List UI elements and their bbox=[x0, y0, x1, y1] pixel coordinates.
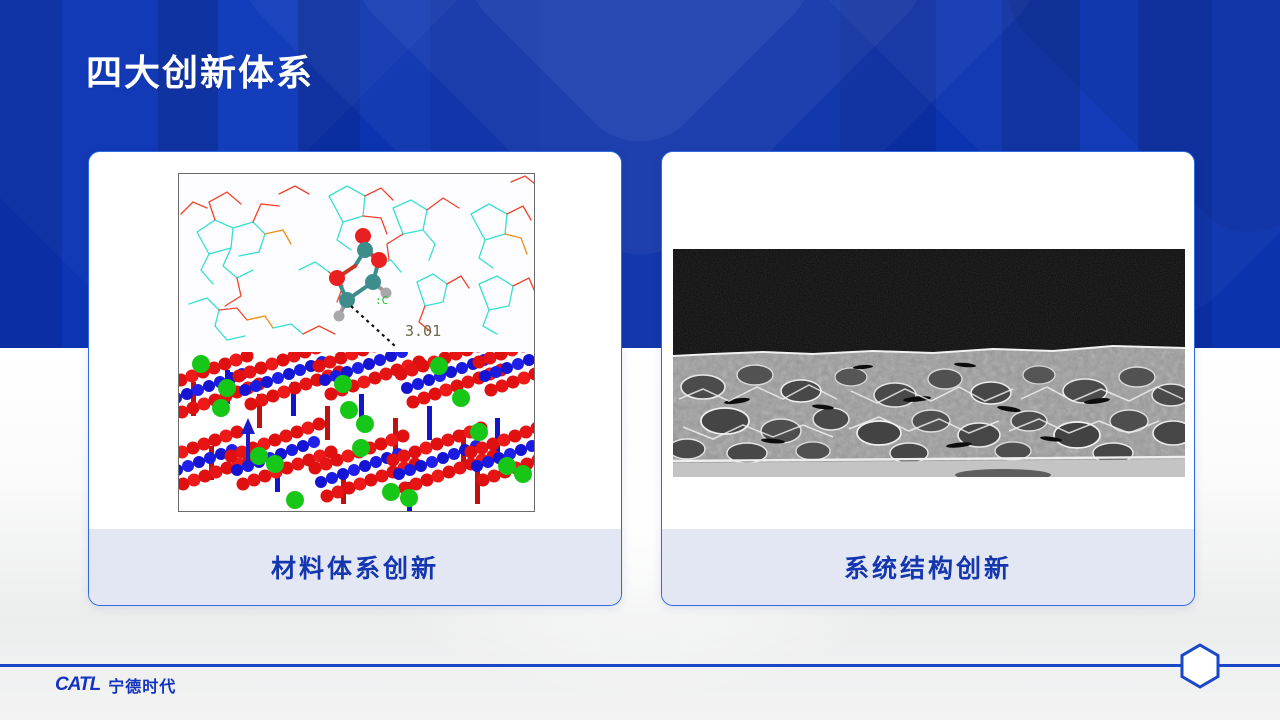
hexagon-decoration-icon bbox=[1178, 643, 1222, 689]
card-system-structure-innovation[interactable]: 系统结构创新 bbox=[661, 151, 1195, 606]
sem-cross-section-image bbox=[673, 249, 1185, 477]
molecular-dynamics-figure: :C 3.01 bbox=[178, 173, 535, 512]
crystal-lattice-region bbox=[179, 352, 534, 512]
ball-and-stick-molecule bbox=[179, 174, 534, 359]
logo-text-latin: CATL bbox=[55, 674, 100, 696]
slide-root: 四大创新体系 bbox=[0, 0, 1280, 720]
bond-distance-label: 3.01 bbox=[405, 322, 441, 340]
page-title: 四大创新体系 bbox=[86, 44, 314, 96]
crystal-lattice-svg bbox=[179, 352, 534, 512]
footer-divider-line bbox=[0, 664, 1280, 667]
card-media-sem bbox=[662, 152, 1194, 529]
card-media-molecular: :C 3.01 bbox=[89, 152, 621, 529]
hydrogen-bond-line bbox=[351, 306, 395, 346]
logo-text-chinese: 宁德时代 bbox=[108, 673, 176, 697]
electrolyte-wireframe-region: :C 3.01 bbox=[179, 174, 534, 359]
catl-logo: CATL 宁德时代 bbox=[55, 673, 176, 697]
atom-label-carbon: :C bbox=[375, 294, 388, 307]
card-material-system-innovation[interactable]: :C 3.01 bbox=[88, 151, 622, 606]
sem-image-svg bbox=[673, 249, 1185, 477]
card-caption-material-system: 材料体系创新 bbox=[89, 529, 621, 605]
card-caption-system-structure: 系统结构创新 bbox=[662, 529, 1194, 605]
